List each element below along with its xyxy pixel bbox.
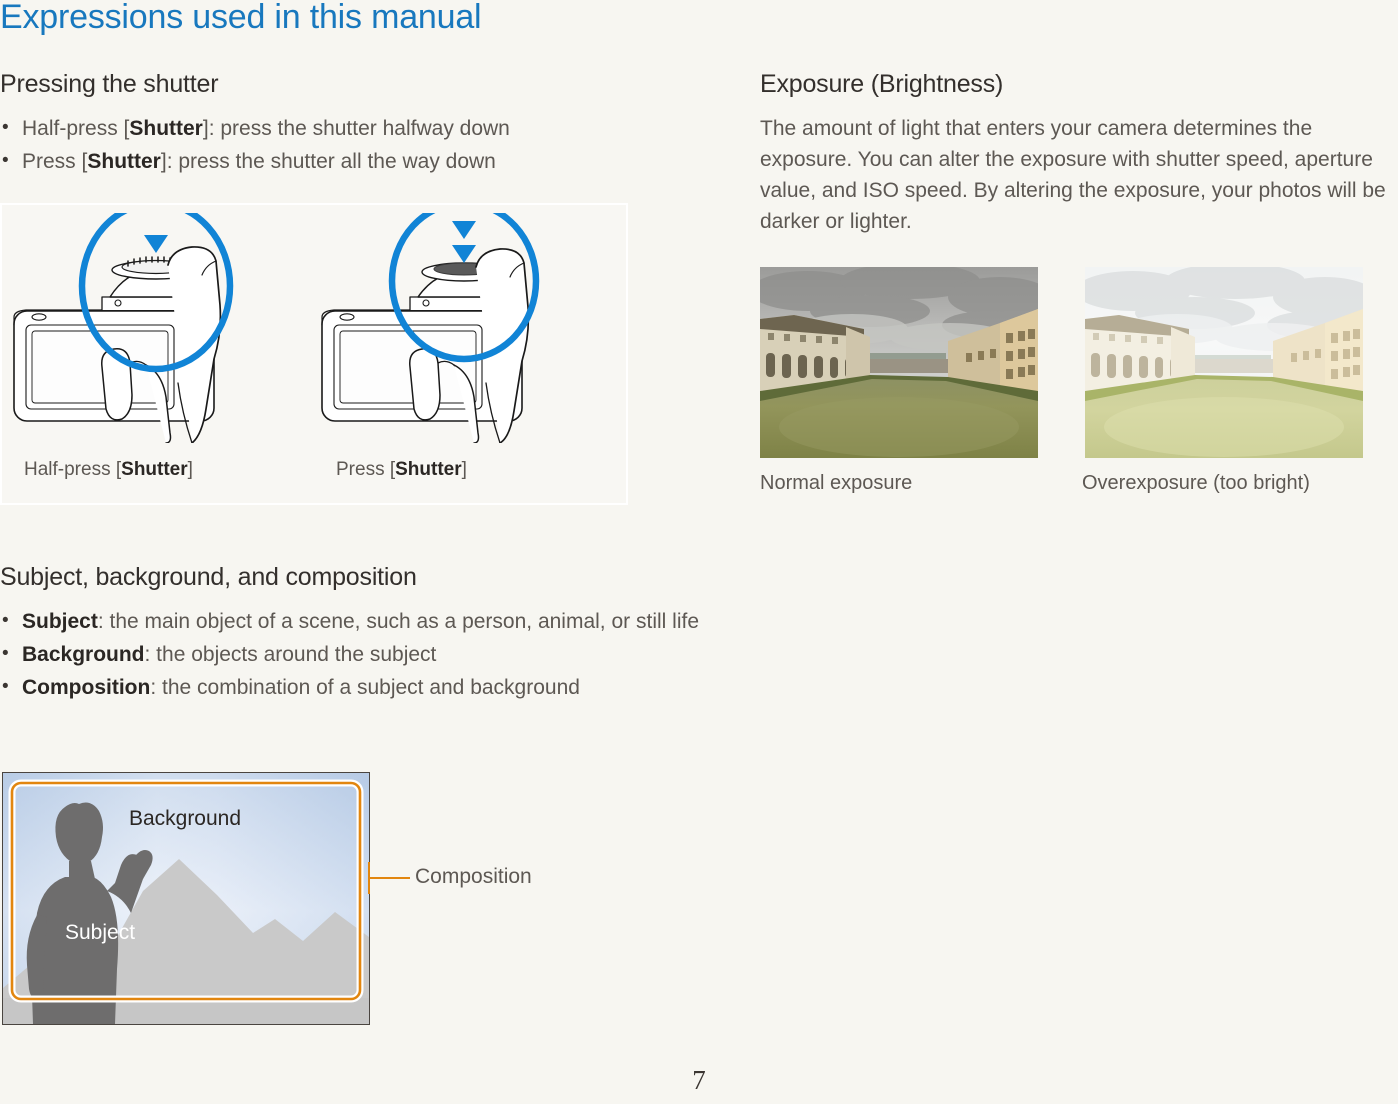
composition-svg: Background Subject	[3, 773, 369, 1024]
left-column: Pressing the shutter Half-press [Shutter…	[0, 70, 700, 179]
list-item: Background: the objects around the subje…	[0, 639, 700, 671]
list-item: Subject: the main object of a scene, suc…	[0, 606, 700, 638]
photo-caption-normal: Normal exposure	[760, 472, 912, 495]
figure-caption-half-press: Half-press [Shutter]	[24, 459, 193, 481]
exposure-paragraph: The amount of light that enters your cam…	[760, 113, 1398, 237]
section-heading-composition: Subject, background, and composition	[0, 563, 700, 592]
bullet-term-background: Background	[22, 643, 145, 666]
photo-normal-exposure	[760, 267, 1038, 458]
right-column: Exposure (Brightness) The amount of ligh…	[760, 70, 1398, 237]
composition-bullet-list: Subject: the main object of a scene, suc…	[0, 606, 700, 704]
figure-caption-press: Press [Shutter]	[336, 459, 467, 481]
camera-halfpress-svg	[6, 213, 316, 443]
composition-illustration: Background Subject	[2, 772, 370, 1025]
list-item: Half-press [Shutter]: press the shutter …	[0, 113, 700, 145]
chevron-down-icon	[144, 235, 168, 253]
camera-illustration-full-press	[314, 213, 624, 443]
label-subject: Subject	[65, 921, 135, 944]
chevron-down-icon	[452, 221, 476, 239]
label-background: Background	[129, 807, 241, 830]
composition-text-block: Subject, background, and composition Sub…	[0, 563, 700, 705]
list-item: Composition: the combination of a subjec…	[0, 672, 700, 704]
camera-press-svg	[314, 213, 624, 443]
photo-caption-overexposure: Overexposure (too bright)	[1082, 472, 1310, 495]
page-number: 7	[0, 1065, 1398, 1096]
bullet-term-composition: Composition	[22, 676, 150, 699]
bullet-text-halfpress: Half-press [Shutter]: press the shutter …	[22, 117, 510, 140]
section-heading-pressing-shutter: Pressing the shutter	[0, 70, 700, 99]
photo-overexposure	[1085, 267, 1363, 458]
river-scene-overexposed	[1085, 267, 1363, 458]
bullet-term-subject: Subject	[22, 610, 98, 633]
bullet-text-press: Press [Shutter]: press the shutter all t…	[22, 150, 496, 173]
page-title: Expressions used in this manual	[0, 0, 481, 37]
leader-line	[368, 877, 410, 879]
shutter-bullet-list: Half-press [Shutter]: press the shutter …	[0, 113, 700, 178]
river-scene-normal	[760, 267, 1038, 458]
section-heading-exposure: Exposure (Brightness)	[760, 70, 1398, 99]
camera-illustration-half-press	[6, 213, 316, 443]
chevron-down-icon-second	[452, 245, 476, 263]
label-composition: Composition	[415, 865, 532, 889]
list-item: Press [Shutter]: press the shutter all t…	[0, 146, 700, 178]
shutter-illustration-box: Half-press [Shutter] Press [Shutter]	[0, 203, 628, 505]
manual-page: Expressions used in this manual Pressing…	[0, 0, 1398, 1104]
